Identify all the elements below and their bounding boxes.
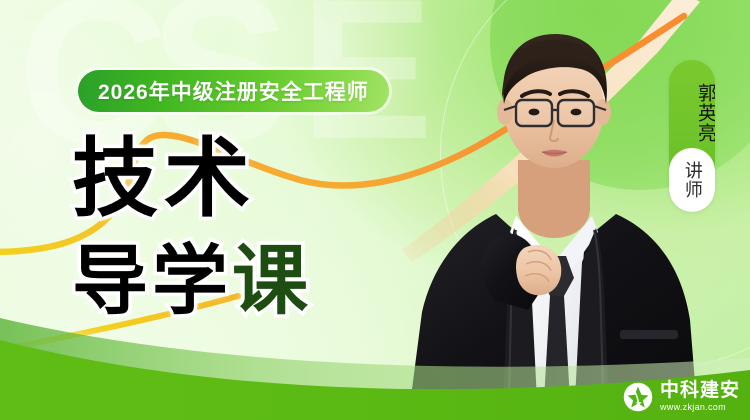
- instructor-role-container: 讲师: [669, 148, 715, 212]
- course-title-badge: 2026年中级注册安全工程师: [78, 70, 389, 112]
- course-badge-label: 2026年中级注册安全工程师: [98, 76, 369, 106]
- poster-title-main: 技术: [72, 136, 256, 222]
- star-circle-icon: [623, 382, 653, 412]
- brand-url: www.zkjan.com: [660, 403, 740, 412]
- brand-text: 中科建安 www.zkjan.com: [660, 381, 740, 412]
- course-poster: C S E: [0, 0, 750, 420]
- instructor-name: 郭英亮: [669, 71, 715, 155]
- brand-name: 中科建安: [660, 381, 740, 400]
- instructor-role: 讲师: [682, 161, 702, 199]
- brand-logo: 中科建安 www.zkjan.com: [623, 381, 740, 412]
- instructor-badge: 郭英亮 讲师: [669, 60, 715, 212]
